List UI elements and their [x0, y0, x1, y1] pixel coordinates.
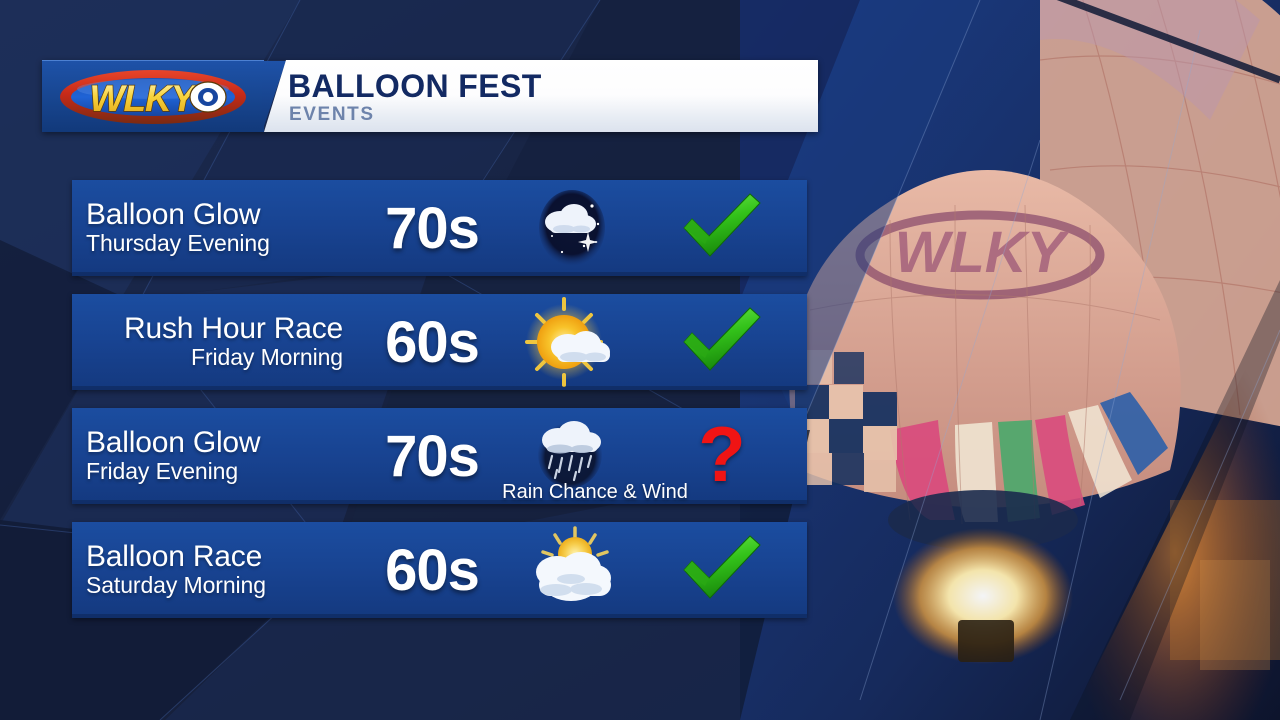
events-list: Balloon Glow Thursday Evening 70s	[72, 180, 807, 636]
svg-text:WLKY: WLKY	[90, 78, 199, 119]
event-time: Thursday Evening	[86, 230, 357, 256]
event-time: Friday Morning	[191, 344, 343, 370]
status-cell: ?	[637, 408, 807, 504]
cbs-eye-icon	[190, 82, 226, 112]
header-text: BALLOON FEST EVENTS	[264, 60, 818, 132]
weather-icon-cell	[507, 294, 637, 390]
event-temperature: 70s	[357, 195, 507, 262]
balloon-photo: WLKY	[740, 0, 1280, 720]
weather-icon-cell: Rain Chance & Wind	[507, 408, 637, 504]
page-subtitle: EVENTS	[289, 105, 818, 124]
event-labels: Balloon Race Saturday Morning	[72, 541, 357, 599]
wlky-logo-art: WLKY	[58, 68, 248, 126]
logo-container: WLKY	[42, 60, 264, 132]
event-temperature: 60s	[357, 537, 507, 604]
weather-icon-cell	[507, 522, 637, 618]
question-icon: ?	[698, 415, 746, 493]
event-row[interactable]: Balloon Glow Friday Evening 70s	[72, 408, 807, 504]
check-icon	[676, 530, 768, 610]
status-cell	[637, 294, 807, 390]
event-time: Saturday Morning	[86, 572, 357, 598]
event-labels: Balloon Glow Friday Evening	[72, 427, 357, 485]
rain-cloud-icon	[524, 412, 620, 490]
event-row[interactable]: Rush Hour Race Friday Morning 60s	[72, 294, 807, 390]
check-icon	[676, 188, 768, 268]
status-cell	[637, 522, 807, 618]
event-name: Rush Hour Race	[124, 313, 343, 344]
event-name: Balloon Glow	[86, 427, 357, 458]
event-row[interactable]: Balloon Race Saturday Morning 60s	[72, 522, 807, 618]
header-banner: WLKY BALLOON FEST EVENTS	[42, 60, 818, 132]
event-name: Balloon Race	[86, 541, 357, 572]
event-labels: Rush Hour Race Friday Morning	[72, 313, 357, 371]
event-time: Friday Evening	[86, 458, 357, 484]
sun-behind-cloud-icon	[524, 297, 620, 387]
balloon-photo-art: WLKY	[740, 0, 1280, 720]
event-temperature: 60s	[357, 309, 507, 376]
wlky-logo: WLKY	[58, 68, 248, 126]
svg-text:WLKY: WLKY	[895, 220, 1071, 285]
page-title: BALLOON FEST	[288, 70, 818, 102]
mostly-cloudy-sun-icon	[523, 526, 621, 614]
event-temperature: 70s	[357, 423, 507, 490]
event-name: Balloon Glow	[86, 199, 357, 230]
weather-icon-cell	[507, 180, 637, 276]
event-labels: Balloon Glow Thursday Evening	[72, 199, 357, 257]
night-cloudy-icon	[526, 184, 618, 272]
event-row[interactable]: Balloon Glow Thursday Evening 70s	[72, 180, 807, 276]
check-icon	[676, 302, 768, 382]
status-cell	[637, 180, 807, 276]
